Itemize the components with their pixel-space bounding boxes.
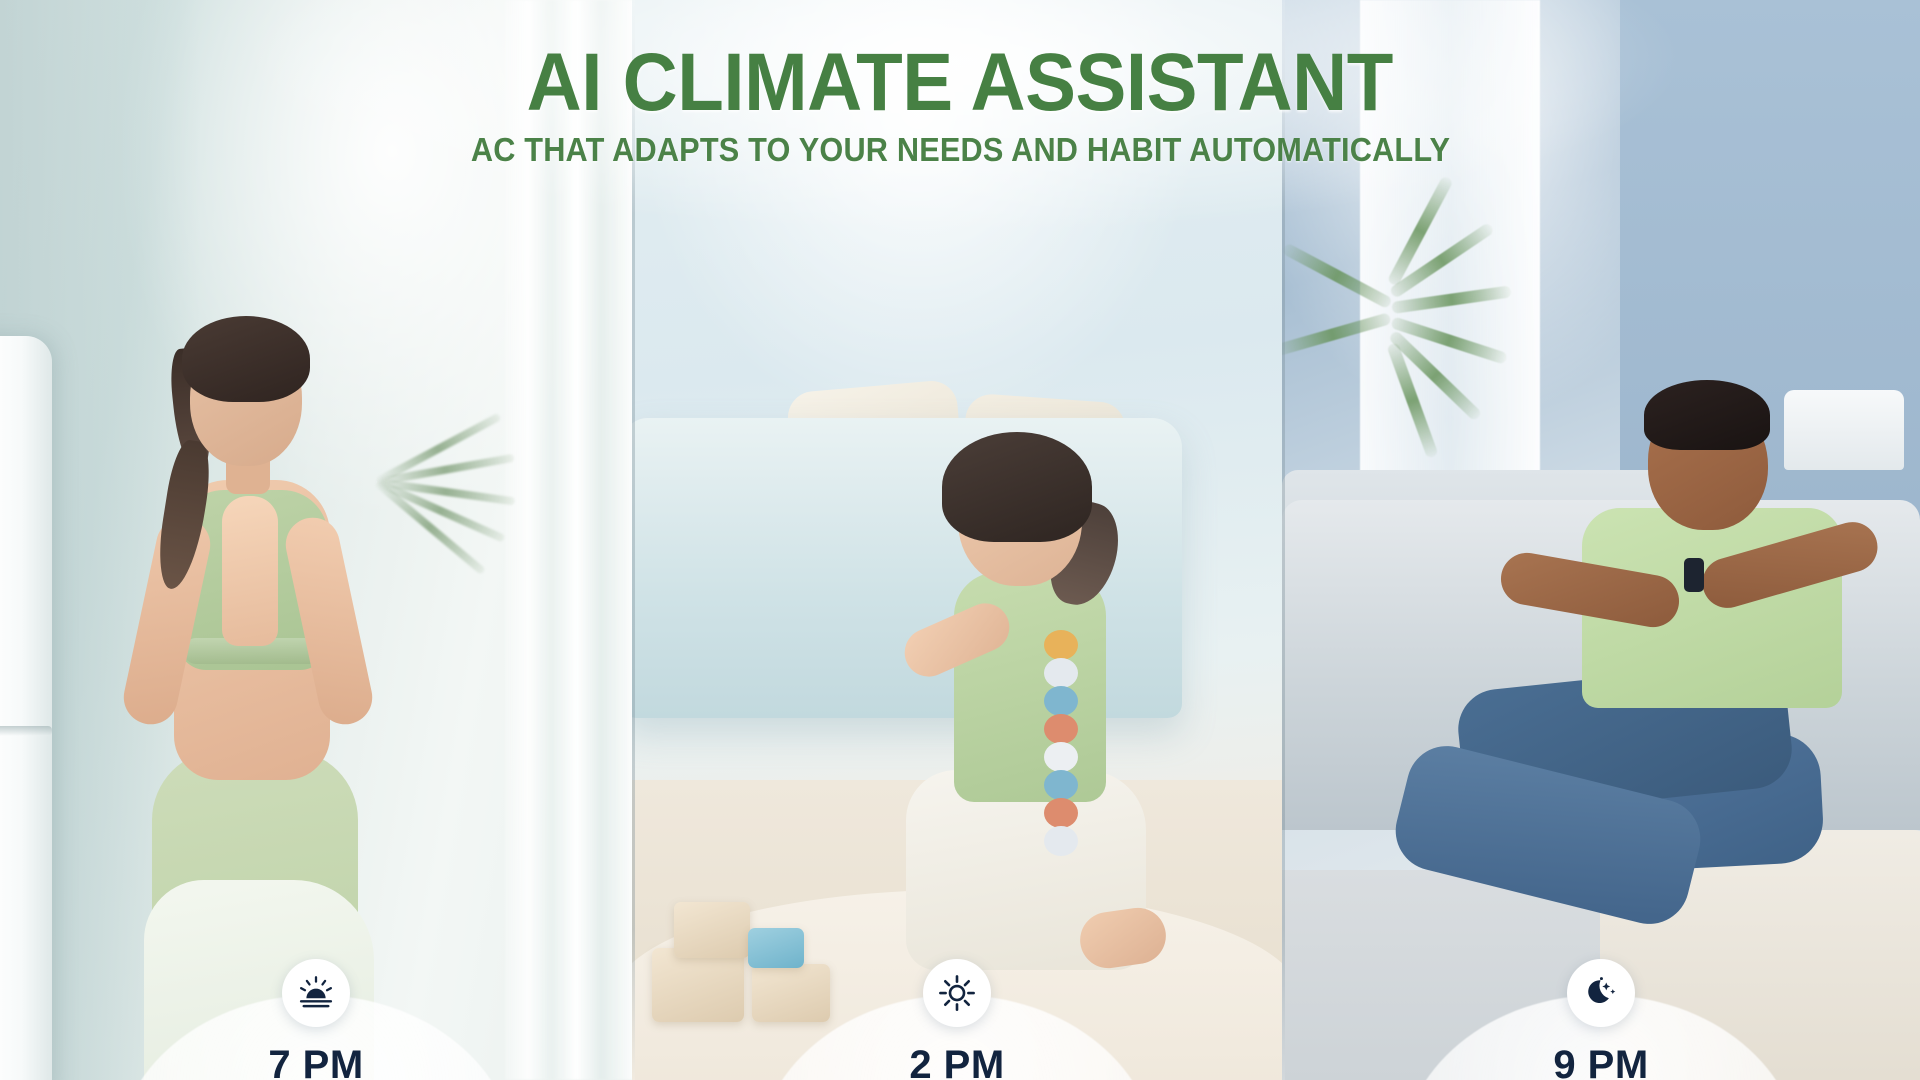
panel-1-time-label: 7 PM — [268, 1043, 363, 1080]
moon-stars-icon — [1567, 959, 1635, 1027]
poster-stage: 7 PM — [0, 0, 1920, 1080]
panel-row: 7 PM — [0, 0, 1920, 1080]
air-conditioner-unit — [0, 336, 52, 1080]
panel-1-status-badge: 7 PM — [106, 959, 526, 1080]
panel-divider-1 — [632, 0, 635, 1080]
panel-3-status-badge: 9 PM — [1391, 959, 1811, 1080]
panel-2-time-label: 2 PM — [909, 1043, 1004, 1080]
panel-divider-2 — [1282, 0, 1285, 1080]
panel-night-relax[interactable]: 9 PM — [1282, 0, 1920, 1080]
panel-afternoon-child[interactable]: 2 PM — [632, 0, 1282, 1080]
panel-2-stacking-toy — [1044, 630, 1078, 850]
panel-3-time-label: 9 PM — [1553, 1043, 1648, 1080]
panel-2-status-badge: 2 PM — [747, 959, 1167, 1080]
panel-evening-yoga[interactable]: 7 PM — [0, 0, 632, 1080]
sunset-icon — [282, 959, 350, 1027]
sun-icon — [923, 959, 991, 1027]
